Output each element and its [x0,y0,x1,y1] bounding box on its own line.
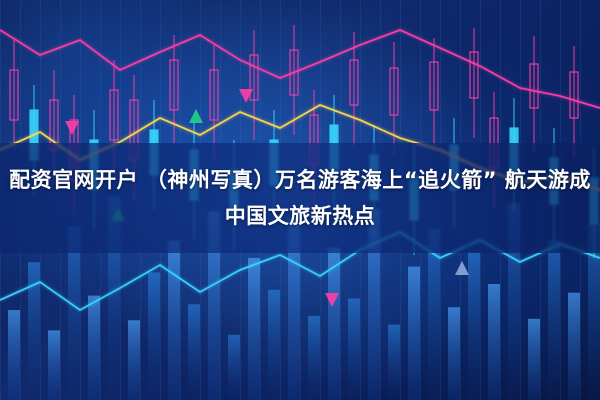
volume-bar [388,325,400,400]
volume-bar [348,299,360,400]
volume-bar [488,284,500,400]
volume-bar [88,296,100,400]
volume-bar [8,310,20,400]
screenshot-root: 配资官网开户 （神州写真）万名游客海上“追火箭” 航天游成中国文旅新热点 [0,0,600,400]
volume-bar [308,316,320,400]
signal-marker-triangle-up [455,261,469,275]
volume-bar [248,258,260,400]
volume-bar [528,319,540,400]
volume-bar [48,330,60,400]
signal-marker-triangle-down [65,121,79,135]
volume-bar [148,272,160,400]
volume-bar [468,252,480,400]
volume-bar [228,335,240,400]
volume-bar [128,320,140,400]
volume-bar [268,290,280,400]
headline-banner: 配资官网开户 （神州写真）万名游客海上“追火箭” 航天游成中国文旅新热点 [0,143,600,253]
trend-line-glow [0,30,600,108]
volume-bar [548,241,560,400]
volume-bar [188,304,200,400]
signal-marker-triangle-down [239,89,253,103]
volume-bar [568,293,580,400]
volume-bar [168,241,180,400]
headline-text: 配资官网开户 （神州写真）万名游客海上“追火箭” 航天游成中国文旅新热点 [0,162,600,234]
volume-bar [448,307,460,400]
signal-marker-triangle-up [189,109,203,123]
volume-bar [408,267,420,400]
